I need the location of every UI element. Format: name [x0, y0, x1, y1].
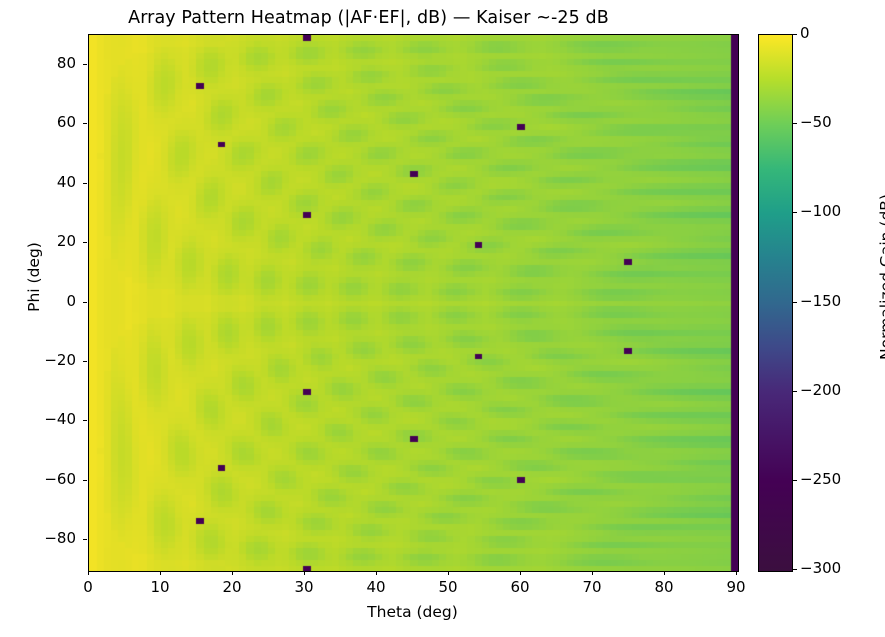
- x-tick-mark: [736, 571, 737, 575]
- x-tick-mark: [520, 571, 521, 575]
- colorbar-tick-label: −200: [800, 381, 841, 399]
- colorbar-tick-mark: [793, 480, 797, 481]
- colorbar-tick-mark: [793, 569, 797, 570]
- y-tick-mark: [83, 361, 87, 362]
- colorbar: [758, 34, 793, 572]
- x-tick-label: 70: [562, 578, 622, 596]
- x-tick-mark: [664, 571, 665, 575]
- colorbar-tick-label: −300: [800, 559, 841, 577]
- y-axis-label: Phi (deg): [25, 147, 43, 407]
- x-tick-label: 20: [202, 578, 262, 596]
- y-tick-mark: [83, 64, 87, 65]
- x-tick-label: 40: [346, 578, 406, 596]
- colorbar-tick-label: −50: [800, 113, 832, 131]
- x-tick-label: 10: [130, 578, 190, 596]
- x-axis-label: Theta (deg): [88, 603, 737, 621]
- x-tick-label: 60: [490, 578, 550, 596]
- figure-canvas: Array Pattern Heatmap (|AF·EF|, dB) — Ka…: [0, 0, 885, 637]
- x-tick-label: 80: [634, 578, 694, 596]
- x-tick-label: 30: [274, 578, 334, 596]
- y-tick-label: 80: [0, 54, 76, 72]
- heatmap-image: [89, 35, 738, 571]
- y-tick-label: 60: [0, 113, 76, 131]
- colorbar-tick-label: −250: [800, 470, 841, 488]
- y-tick-mark: [83, 420, 87, 421]
- x-tick-label: 0: [58, 578, 118, 596]
- y-tick-mark: [83, 123, 87, 124]
- colorbar-tick-mark: [793, 34, 797, 35]
- y-tick-label: −80: [0, 529, 76, 547]
- x-tick-mark: [88, 571, 89, 575]
- colorbar-tick-mark: [793, 391, 797, 392]
- x-tick-mark: [448, 571, 449, 575]
- x-tick-label: 90: [706, 578, 766, 596]
- y-tick-mark: [83, 480, 87, 481]
- x-tick-label: 50: [418, 578, 478, 596]
- colorbar-tick-mark: [793, 212, 797, 213]
- x-tick-mark: [304, 571, 305, 575]
- colorbar-tick-label: −100: [800, 202, 841, 220]
- y-tick-mark: [83, 539, 87, 540]
- colorbar-tick-label: −150: [800, 292, 841, 310]
- y-tick-mark: [83, 183, 87, 184]
- chart-title: Array Pattern Heatmap (|AF·EF|, dB) — Ka…: [0, 8, 737, 28]
- y-tick-label: −60: [0, 470, 76, 488]
- y-tick-label: −40: [0, 410, 76, 428]
- y-tick-mark: [83, 242, 87, 243]
- colorbar-tick-mark: [793, 302, 797, 303]
- x-tick-mark: [232, 571, 233, 575]
- x-tick-mark: [160, 571, 161, 575]
- colorbar-tick-mark: [793, 123, 797, 124]
- colorbar-tick-label: 0: [800, 24, 810, 42]
- colorbar-label: Normalized Gain (dB): [877, 147, 885, 407]
- x-tick-mark: [376, 571, 377, 575]
- y-tick-mark: [83, 302, 87, 303]
- heatmap-axes: [88, 34, 739, 572]
- x-tick-mark: [592, 571, 593, 575]
